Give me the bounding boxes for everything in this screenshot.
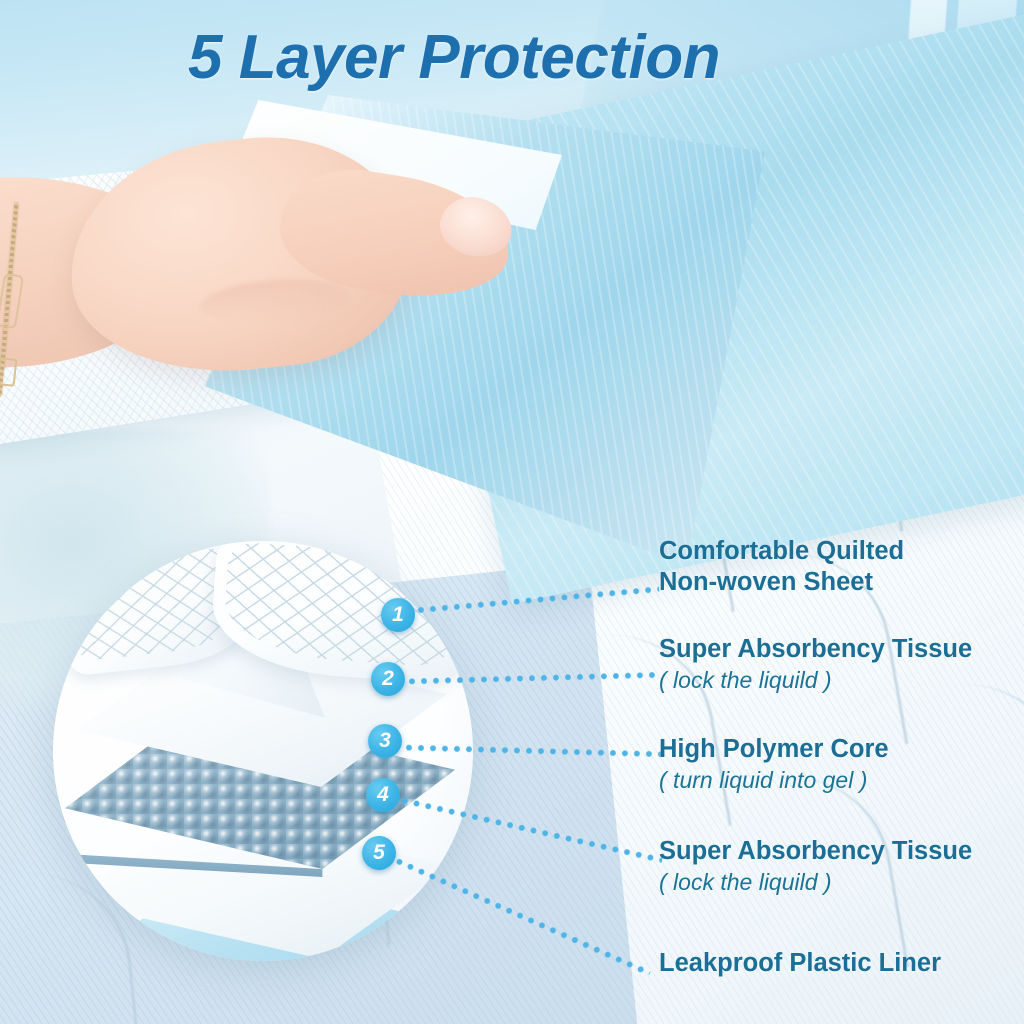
layer-label-5: Leakproof Plastic Liner — [659, 948, 941, 979]
bracelet-charm — [0, 273, 24, 329]
layer-label-4-note: ( lock the liquild ) — [659, 867, 972, 898]
layer-label-2: Super Absorbency Tissue ( lock the liqui… — [659, 634, 972, 696]
page-title: 5 Layer Protection — [188, 22, 720, 93]
layer-badge-4[interactable]: 4 — [366, 778, 400, 812]
product-infographic: 5 Layer Protection 1 2 3 4 5 Comfortable… — [0, 0, 1024, 1024]
layer-label-3-line1: High Polymer Core — [659, 734, 889, 765]
layer-label-1: Comfortable Quilted Non-woven Sheet — [659, 536, 904, 598]
layer-badge-3[interactable]: 3 — [368, 724, 402, 758]
layer-label-1-line2: Non-woven Sheet — [659, 567, 904, 598]
layer-label-3-note: ( turn liquid into gel ) — [659, 765, 889, 796]
layer-label-2-line1: Super Absorbency Tissue — [659, 634, 972, 665]
layer-badge-1[interactable]: 1 — [381, 598, 415, 632]
layer-label-4-line1: Super Absorbency Tissue — [659, 836, 972, 867]
layer-badge-5[interactable]: 5 — [362, 836, 396, 870]
layer-label-4: Super Absorbency Tissue ( lock the liqui… — [659, 836, 972, 898]
hand-holding-pad — [0, 80, 580, 410]
layer-label-5-line1: Leakproof Plastic Liner — [659, 948, 941, 979]
layer-label-1-line1: Comfortable Quilted — [659, 536, 904, 567]
bracelet — [0, 202, 24, 397]
layer-label-3: High Polymer Core ( turn liquid into gel… — [659, 734, 889, 796]
layer-badge-2[interactable]: 2 — [371, 662, 405, 696]
bracelet-tag — [0, 357, 17, 387]
layer-label-2-note: ( lock the liquild ) — [659, 665, 972, 696]
